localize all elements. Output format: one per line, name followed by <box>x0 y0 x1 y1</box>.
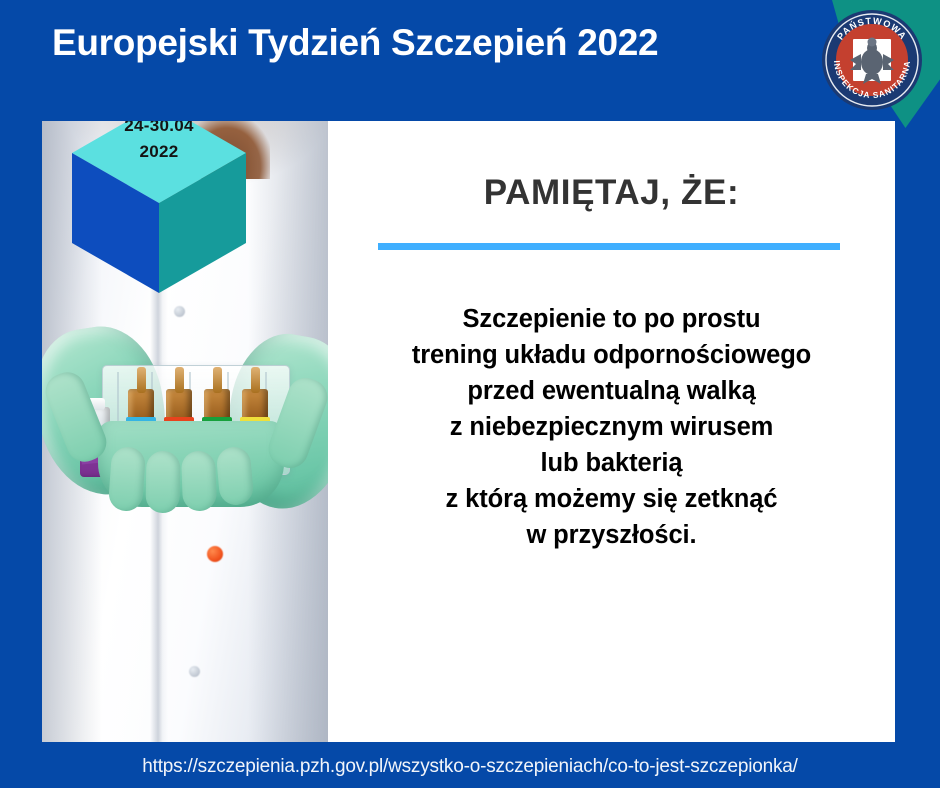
message-column: PAMIĘTAJ, ŻE: Szczepienie to po prostu t… <box>328 121 895 742</box>
message-line: w przyszłości. <box>336 517 887 553</box>
content-panel: VACCINE VACCINE VACCINE VACCINE VACCINE <box>42 121 895 742</box>
heading-underline <box>378 243 840 250</box>
page-title: Europejski Tydzień Szczepień 2022 <box>52 22 812 64</box>
coat-button-lower <box>189 666 200 677</box>
vial-neck <box>251 367 260 393</box>
vial-neck <box>137 367 146 393</box>
coat-button-upper <box>174 306 185 317</box>
message-line: przed ewentualną walką <box>336 373 887 409</box>
message-line: z którą możemy się zetknąć <box>336 481 887 517</box>
poster-root: Europejski Tydzień Szczepień 2022 <box>0 0 940 788</box>
cube-date-text: 24-30.04 2022 <box>96 121 222 164</box>
message-heading: PAMIĘTAJ, ŻE: <box>328 173 895 213</box>
cube-date-year: 2022 <box>96 139 222 165</box>
vaccine-photo: VACCINE VACCINE VACCINE VACCINE VACCINE <box>42 121 328 742</box>
vial-neck <box>175 367 184 393</box>
message-line: trening układu odpornościowego <box>336 337 887 373</box>
source-url[interactable]: https://szczepienia.pzh.gov.pl/wszystko-… <box>0 756 940 778</box>
glove-finger <box>181 450 217 511</box>
panstwowa-inspekcja-sanitarna-logo: PAŃSTWOWA INSPEKCJA SANITARNA <box>820 8 924 112</box>
message-line: lub bakterią <box>336 445 887 481</box>
coat-button-orange <box>207 546 223 562</box>
glove-finger <box>216 446 255 507</box>
cube-date-range: 24-30.04 <box>96 121 222 139</box>
glove-finger <box>108 446 146 512</box>
date-cube-graphic: 24-30.04 2022 <box>56 121 262 293</box>
vial-neck <box>213 367 222 393</box>
message-line: Szczepienie to po prostu <box>336 301 887 337</box>
glove-finger <box>145 451 180 514</box>
message-body: Szczepienie to po prostu trening układu … <box>336 301 887 553</box>
message-line: z niebezpiecznym wirusem <box>336 409 887 445</box>
